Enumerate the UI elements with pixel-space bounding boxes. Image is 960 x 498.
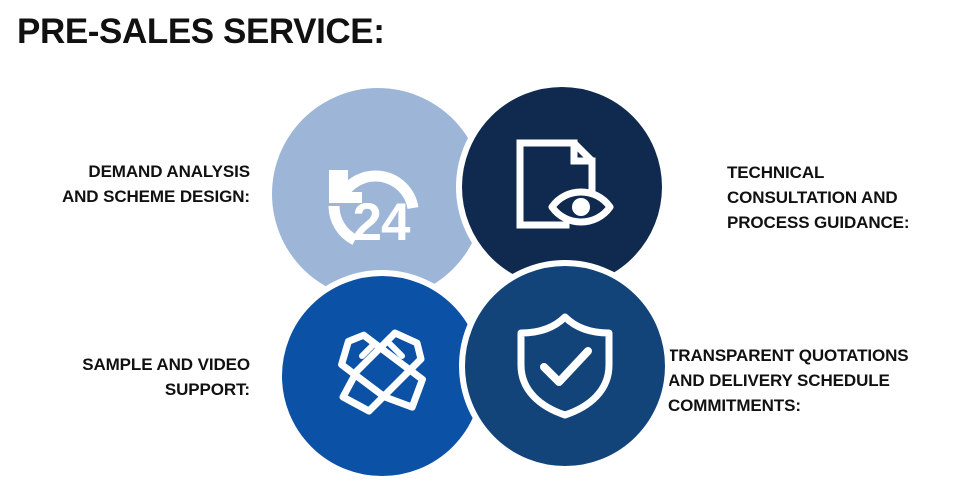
- circle-sample-video-support[interactable]: [276, 270, 488, 482]
- shield-check-icon: [465, 266, 665, 466]
- label-transparent-quotations: TRANSPARENT QUOTATIONS AND DELIVERY SCHE…: [668, 343, 960, 418]
- svg-text:24: 24: [353, 193, 411, 248]
- label-sample-video-support: SAMPLE AND VIDEO SUPPORT:: [0, 352, 250, 402]
- label-line: PROCESS GUIDANCE:: [727, 210, 953, 235]
- document-eye-icon: [462, 87, 662, 287]
- circle-demand-analysis[interactable]: 24: [272, 88, 484, 300]
- pre-sales-service-infographic: PRE-SALES SERVICE: 24: [0, 0, 960, 498]
- label-line: SAMPLE AND VIDEO: [0, 352, 250, 377]
- label-line: AND SCHEME DESIGN:: [0, 184, 250, 209]
- clock-rotate-24-icon: 24: [272, 88, 484, 300]
- label-line: TRANSPARENT QUOTATIONS: [668, 343, 960, 368]
- label-line: DEMAND ANALYSIS: [0, 159, 250, 184]
- label-line: COMMITMENTS:: [668, 393, 960, 418]
- pen-pencil-cross-icon: [282, 276, 482, 476]
- label-line: SUPPORT:: [0, 377, 250, 402]
- label-line: TECHNICAL: [727, 160, 953, 185]
- label-demand-analysis: DEMAND ANALYSIS AND SCHEME DESIGN:: [0, 159, 250, 209]
- circle-cluster: 24: [262, 78, 678, 488]
- label-line: CONSULTATION AND: [727, 185, 953, 210]
- label-technical-consultation: TECHNICAL CONSULTATION AND PROCESS GUIDA…: [727, 160, 953, 235]
- page-title: PRE-SALES SERVICE:: [17, 9, 385, 55]
- label-line: AND DELIVERY SCHEDULE: [668, 368, 960, 393]
- circle-transparent-quotations[interactable]: [459, 260, 671, 472]
